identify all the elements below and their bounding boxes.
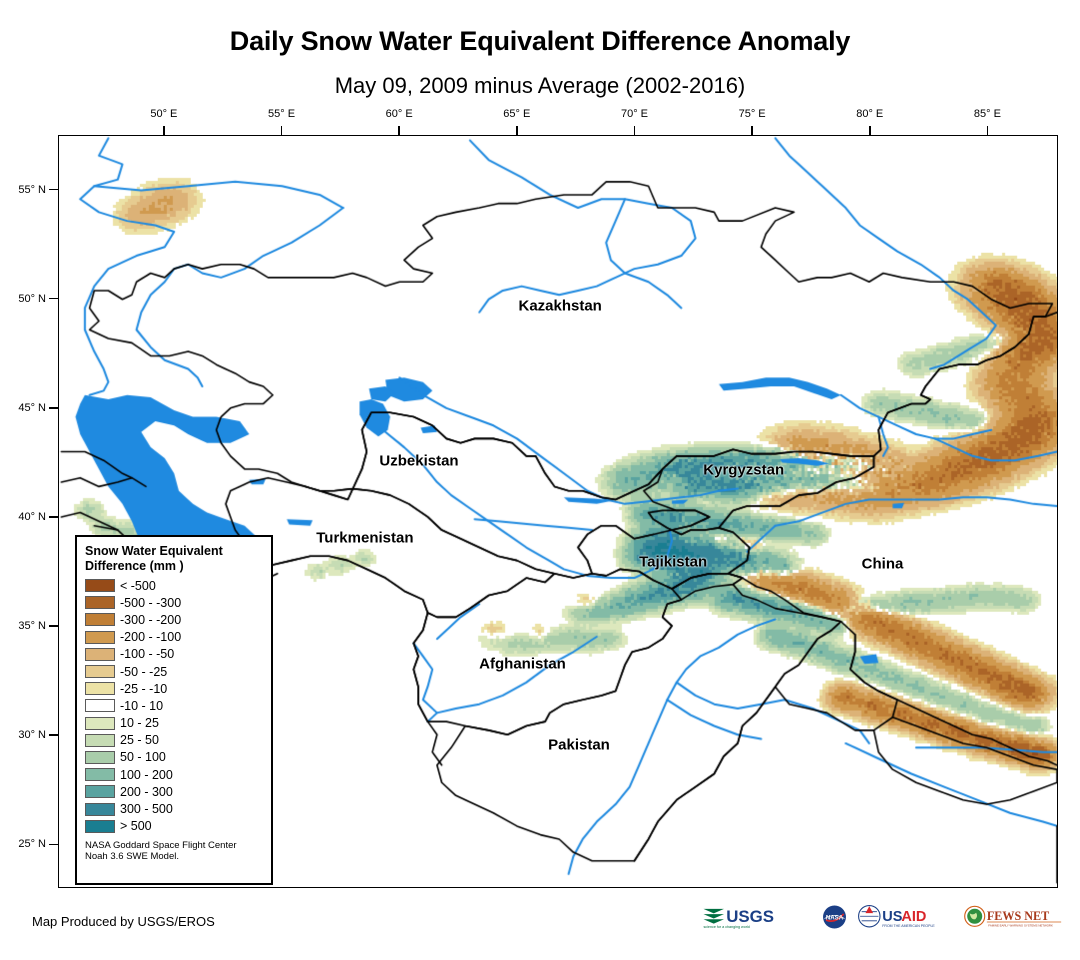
legend-swatch bbox=[85, 596, 115, 609]
legend-swatch bbox=[85, 803, 115, 816]
legend-label: > 500 bbox=[120, 819, 152, 833]
legend-label: 200 - 300 bbox=[120, 785, 173, 799]
latitude-tick bbox=[49, 298, 58, 300]
legend-label: 25 - 50 bbox=[120, 733, 159, 747]
longitude-label: 80° E bbox=[856, 108, 883, 120]
legend-class-list: < -500-500 - -300-300 - -200-200 - -100-… bbox=[85, 577, 264, 835]
legend-row: < -500 bbox=[85, 577, 264, 594]
legend-row: -200 - -100 bbox=[85, 629, 264, 646]
legend-row: 50 - 100 bbox=[85, 749, 264, 766]
country-label-kazakhstan: Kazakhstan bbox=[518, 298, 601, 315]
legend-swatch bbox=[85, 768, 115, 781]
legend-label: -25 - -10 bbox=[120, 682, 167, 696]
page-title: Daily Snow Water Equivalent Difference A… bbox=[0, 26, 1080, 57]
latitude-tick bbox=[49, 844, 58, 846]
longitude-label: 70° E bbox=[621, 108, 648, 120]
legend-row: 300 - 500 bbox=[85, 800, 264, 817]
usgs-logo: USGS science for a changing world bbox=[702, 904, 812, 930]
latitude-label: 40° N bbox=[2, 511, 46, 523]
longitude-tick bbox=[869, 126, 871, 135]
longitude-label: 60° E bbox=[386, 108, 413, 120]
legend-swatch bbox=[85, 734, 115, 747]
longitude-tick bbox=[281, 126, 283, 135]
legend-row: > 500 bbox=[85, 818, 264, 835]
latitude-label: 35° N bbox=[2, 620, 46, 632]
legend-title: Snow Water Equivalent Difference (mm ) bbox=[85, 544, 264, 573]
country-label-china: China bbox=[862, 555, 904, 572]
country-label-tajikistan: Tajikistan bbox=[639, 553, 707, 570]
legend-swatch bbox=[85, 665, 115, 678]
fewsnet-logo: FEWS NET FAMINE EARLY WARNING SYSTEMS NE… bbox=[964, 904, 1064, 930]
legend-row: -50 - -25 bbox=[85, 663, 264, 680]
legend-swatch bbox=[85, 751, 115, 764]
country-label-turkmenistan: Turkmenistan bbox=[316, 529, 413, 546]
latitude-tick bbox=[49, 407, 58, 409]
svg-text:FROM THE AMERICAN PEOPLE: FROM THE AMERICAN PEOPLE bbox=[882, 924, 935, 928]
longitude-tick bbox=[634, 126, 636, 135]
legend-swatch bbox=[85, 820, 115, 833]
longitude-tick bbox=[398, 126, 400, 135]
svg-text:AID: AID bbox=[901, 909, 926, 925]
legend-swatch bbox=[85, 717, 115, 730]
legend-swatch bbox=[85, 579, 115, 592]
longitude-tick bbox=[751, 126, 753, 135]
legend-label: 300 - 500 bbox=[120, 802, 173, 816]
legend-label: -100 - -50 bbox=[120, 647, 174, 661]
legend-label: 10 - 25 bbox=[120, 716, 159, 730]
usaid-logo: US AID FROM THE AMERICAN PEOPLE bbox=[857, 904, 955, 930]
legend-label: -200 - -100 bbox=[120, 630, 181, 644]
map-legend: Snow Water Equivalent Difference (mm ) <… bbox=[75, 535, 273, 885]
country-label-pakistan: Pakistan bbox=[548, 736, 610, 753]
country-label-kyrgyzstan: Kyrgyzstan bbox=[703, 461, 784, 478]
page-subtitle: May 09, 2009 minus Average (2002-2016) bbox=[0, 73, 1080, 99]
legend-label: -50 - -25 bbox=[120, 665, 167, 679]
legend-swatch bbox=[85, 785, 115, 798]
legend-swatch bbox=[85, 699, 115, 712]
longitude-tick bbox=[163, 126, 165, 135]
legend-row: 10 - 25 bbox=[85, 715, 264, 732]
longitude-tick bbox=[987, 126, 989, 135]
legend-label: -10 - 10 bbox=[120, 699, 163, 713]
legend-swatch bbox=[85, 613, 115, 626]
svg-text:FEWS NET: FEWS NET bbox=[987, 909, 1049, 923]
legend-row: -500 - -300 bbox=[85, 594, 264, 611]
legend-swatch bbox=[85, 631, 115, 644]
legend-row: -10 - 10 bbox=[85, 697, 264, 714]
legend-row: -25 - -10 bbox=[85, 680, 264, 697]
legend-label: 100 - 200 bbox=[120, 768, 173, 782]
latitude-label: 55° N bbox=[2, 184, 46, 196]
longitude-tick bbox=[516, 126, 518, 135]
longitude-label: 65° E bbox=[503, 108, 530, 120]
logo-bar: USGS science for a changing world NASA U… bbox=[702, 903, 1064, 931]
legend-label: -500 - -300 bbox=[120, 596, 181, 610]
latitude-tick bbox=[49, 516, 58, 518]
legend-row: -300 - -200 bbox=[85, 611, 264, 628]
latitude-tick bbox=[49, 734, 58, 736]
legend-swatch bbox=[85, 648, 115, 661]
latitude-label: 30° N bbox=[2, 729, 46, 741]
latitude-tick bbox=[49, 625, 58, 627]
legend-label: -300 - -200 bbox=[120, 613, 181, 627]
country-label-uzbekistan: Uzbekistan bbox=[379, 453, 458, 470]
country-label-afghanistan: Afghanistan bbox=[479, 656, 566, 673]
svg-text:NASA: NASA bbox=[826, 914, 844, 921]
longitude-label: 50° E bbox=[150, 108, 177, 120]
longitude-label: 75° E bbox=[739, 108, 766, 120]
longitude-label: 85° E bbox=[974, 108, 1001, 120]
latitude-label: 50° N bbox=[2, 293, 46, 305]
legend-row: 100 - 200 bbox=[85, 766, 264, 783]
legend-swatch bbox=[85, 682, 115, 695]
latitude-label: 25° N bbox=[2, 838, 46, 850]
legend-label: < -500 bbox=[120, 579, 156, 593]
svg-text:FAMINE EARLY WARNING SYSTEMS N: FAMINE EARLY WARNING SYSTEMS NETWORK bbox=[988, 923, 1053, 927]
svg-text:US: US bbox=[882, 909, 902, 925]
legend-row: -100 - -50 bbox=[85, 646, 264, 663]
svg-text:science for a changing world: science for a changing world bbox=[703, 925, 749, 929]
svg-text:USGS: USGS bbox=[726, 907, 774, 926]
nasa-logo: NASA bbox=[821, 904, 848, 930]
legend-label: 50 - 100 bbox=[120, 750, 166, 764]
footer-credit: Map Produced by USGS/EROS bbox=[32, 914, 215, 929]
latitude-label: 45° N bbox=[2, 402, 46, 414]
legend-row: 25 - 50 bbox=[85, 732, 264, 749]
longitude-label: 55° E bbox=[268, 108, 295, 120]
legend-row: 200 - 300 bbox=[85, 783, 264, 800]
latitude-tick bbox=[49, 189, 58, 191]
legend-credit: NASA Goddard Space Flight Center Noah 3.… bbox=[85, 840, 264, 863]
